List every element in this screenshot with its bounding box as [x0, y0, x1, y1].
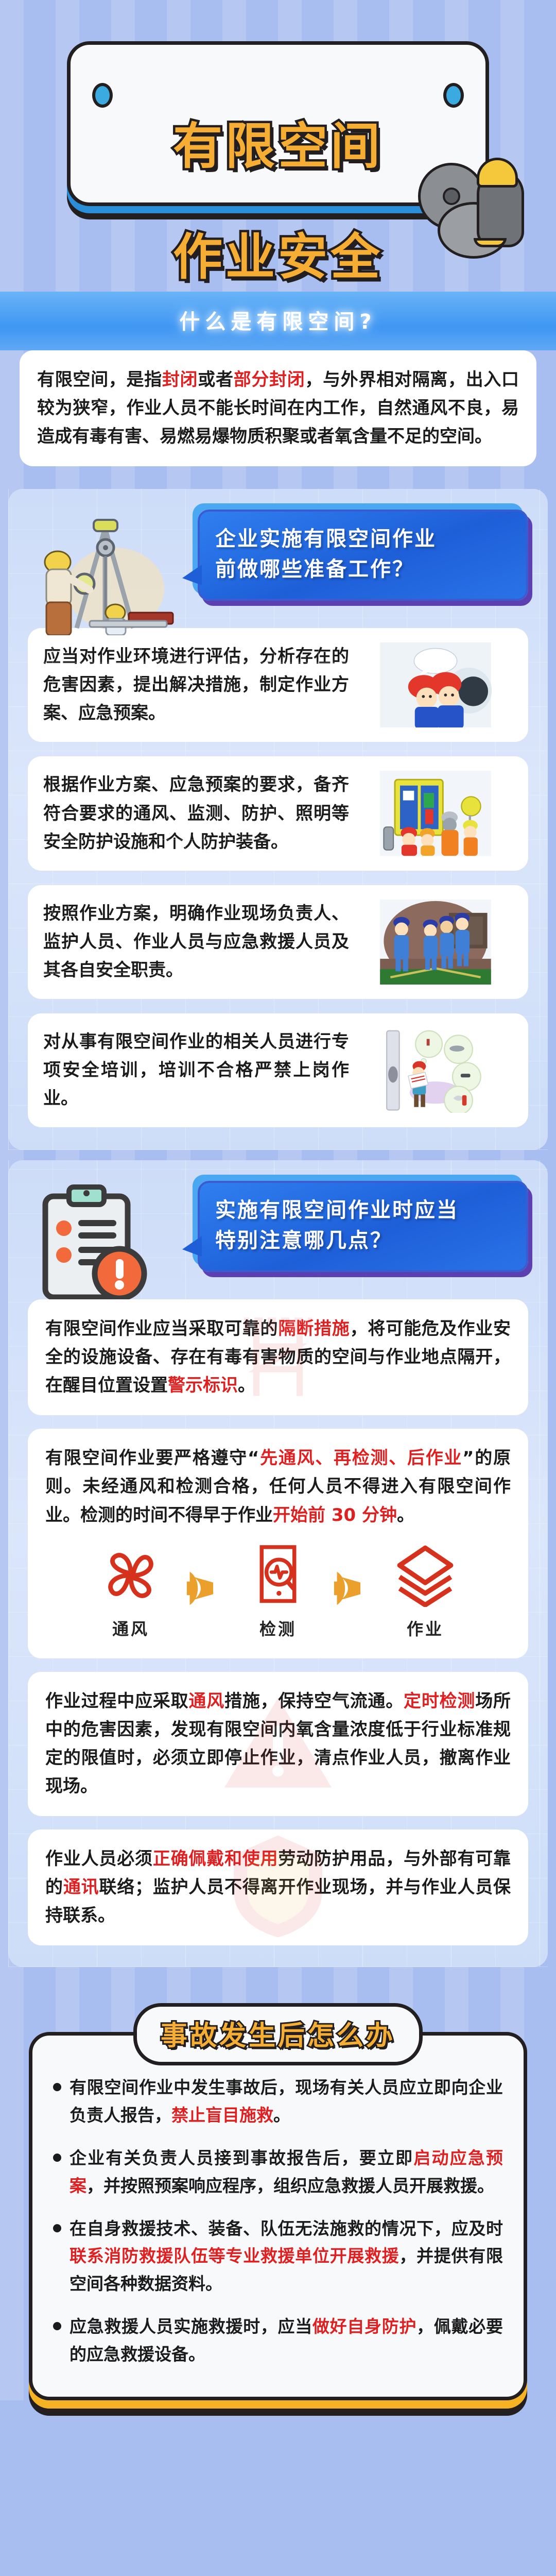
- prep-item-1: 应当对作业环境进行评估，分析存在的危害因素，提出解决措施，制定作业方案、应急预案…: [28, 628, 528, 742]
- prep-item-4-text: 对从事有限空间作业的相关人员进行专项安全培训，培训不合格严禁上岗作业。: [43, 1028, 349, 1113]
- prep-item-3-text: 按照作业方案，明确作业现场负责人、监护人员、作业人员与应急救援人员及其各自安全职…: [43, 900, 349, 985]
- right-arrow-icon: [185, 1550, 224, 1627]
- emergency-bullet-list: 有限空间作业中发生事故后，现场有关人员应立即向企业负责人报告，禁止盲目施救。 企…: [53, 2074, 503, 2368]
- section2-shell: 企业实施有限空间作业 前做哪些准备工作？ 应当对作业环境进行评估，分析存在的危害…: [8, 489, 548, 1150]
- page-title-line2: 作业安全: [173, 228, 383, 286]
- section4-tab-label: 事故发生后怎么办: [161, 2021, 395, 2052]
- bullet-dot-icon: [53, 2322, 61, 2330]
- emergency-bullet-1-text: 有限空间作业中发生事故后，现场有关人员应立即向企业负责人报告，禁止盲目施救。: [69, 2074, 503, 2129]
- equipment-cabinet-workers-illustration: [358, 771, 513, 856]
- emergency-bullet-4-text: 应急救援人员实施救援时，应当做好自身防护，佩戴必要的应急救援设备。: [69, 2313, 503, 2368]
- section1-heading-band: 什么是有限空间?: [0, 292, 556, 350]
- caution-item-4-text: 作业人员必须正确佩戴和使用劳动防护用品，与外部有可靠的通讯联络；监护人员不得离开…: [45, 1845, 511, 1930]
- caution-item-2-text: 有限空间作业要严格遵守“先通风、再检测、后作业”的原则。未经通风和检测合格，任何…: [45, 1444, 511, 1529]
- fan-icon: [82, 1537, 180, 1614]
- flow-label-detect: 检测: [229, 1616, 327, 1640]
- bullet-dot-icon: [53, 2083, 61, 2091]
- list-item: 企业有关负责人员接到事故报告后，要立即启动应急预案，并按照预案响应程序，组织应急…: [53, 2144, 503, 2199]
- section3-header: 实施有限空间作业时应当 特别注意哪几点？: [28, 1181, 528, 1299]
- emergency-bullet-2-text: 企业有关负责人员接到事故报告后，要立即启动应急预案，并按照预案响应程序，组织应急…: [69, 2144, 503, 2199]
- worker-reading-safety-board-illustration: [358, 1028, 513, 1113]
- flow-label-work: 作业: [376, 1616, 474, 1640]
- section3-bubble: 实施有限空间作业时应当 特别注意哪几点？: [198, 1181, 528, 1272]
- section4-wrapper: 事故发生后怎么办 有限空间作业中发生事故后，现场有关人员应立即向企业负责人报告，…: [29, 2003, 527, 2400]
- workers-briefing-line-illustration: [358, 900, 513, 985]
- caution-item-4: 作业人员必须正确佩戴和使用劳动防护用品，与外部有可靠的通讯联络；监护人员不得离开…: [28, 1829, 528, 1945]
- caution-item-1: 有限空间作业应当采取可靠的隔断措施，将可能危及作业安全的设施设备、存在有毒有害物…: [28, 1299, 528, 1415]
- definition-text: 有限空间，是指封闭或者部分封闭，与外界相对隔离，出入口较为狭窄，作业人员不能长时…: [37, 366, 519, 451]
- flow-step-ventilate: 通风: [82, 1537, 180, 1640]
- list-item: 在自身救援技术、装备、队伍无法施救的情况下，应及时联系消防救援队伍等专业救援单位…: [53, 2215, 503, 2297]
- ventilate-detect-work-flow: 通风: [45, 1530, 511, 1643]
- section2-heading-line1: 企业实施有限空间作业: [215, 524, 513, 554]
- section2-header: 企业实施有限空间作业 前做哪些准备工作？: [28, 510, 528, 628]
- list-item: 应急救援人员实施救援时，应当做好自身防护，佩戴必要的应急救援设备。: [53, 2313, 503, 2368]
- bullet-dot-icon: [53, 2154, 61, 2162]
- page-title-line1: 有限空间: [173, 117, 383, 175]
- prep-item-1-text: 应当对作业环境进行评估，分析存在的危害因素，提出解决措施，制定作业方案、应急预案…: [43, 642, 349, 727]
- section3-shell: 实施有限空间作业时应当 特别注意哪几点？ 有限空间作业应当采取可靠的隔断措: [8, 1160, 548, 1967]
- section3-heading-line2: 特别注意哪几点？: [215, 1226, 513, 1256]
- bullet-dot-icon: [53, 2224, 61, 2232]
- right-arrow-icon-2: [332, 1550, 371, 1627]
- list-item: 有限空间作业中发生事故后，现场有关人员应立即向企业负责人报告，禁止盲目施救。: [53, 2074, 503, 2129]
- hero-section: 有限空间 作业安全: [0, 0, 556, 289]
- caution-item-2: 有限空间作业要严格遵守“先通风、再检测、后作业”的原则。未经通风和检测合格，任何…: [28, 1429, 528, 1658]
- section1-heading: 什么是有限空间?: [0, 305, 556, 335]
- flow-step-work: 作业: [376, 1537, 474, 1640]
- caution-item-1-text: 有限空间作业应当采取可靠的隔断措施，将可能危及作业安全的设施设备、存在有毒有害物…: [45, 1315, 511, 1400]
- layers-chevron-icon: [376, 1537, 474, 1614]
- flow-label-ventilate: 通风: [82, 1616, 180, 1640]
- prep-item-4: 对从事有限空间作业的相关人员进行专项安全培训，培训不合格严禁上岗作业。: [28, 1013, 528, 1127]
- definition-card: 有限空间，是指封闭或者部分封闭，与外界相对隔离，出入口较为狭窄，作业人员不能长时…: [20, 350, 536, 466]
- section3-heading-line1: 实施有限空间作业时应当: [215, 1195, 513, 1226]
- section4-card: 有限空间作业中发生事故后，现场有关人员应立即向企业负责人报告，禁止盲目施救。 企…: [29, 2032, 527, 2400]
- emergency-bullet-3-text: 在自身救援技术、装备、队伍无法施救的情况下，应及时联系消防救援队伍等专业救援单位…: [69, 2215, 503, 2297]
- section1-body: 有限空间，是指封闭或者部分封闭，与外界相对隔离，出入口较为狭窄，作业人员不能长时…: [0, 350, 556, 489]
- infographic-page: 有限空间 作业安全 什么是有限空间? 有限空间，是指封闭或者部分封闭，与外界相对…: [0, 0, 556, 2400]
- flow-step-detect: 检测: [229, 1537, 327, 1640]
- section2-heading-line2: 前做哪些准备工作？: [215, 554, 513, 585]
- safety-helmet-icon: [418, 152, 526, 261]
- clipboard-checklist-warning-illustration: [28, 1183, 193, 1307]
- section2-bubble: 企业实施有限空间作业 前做哪些准备工作？: [198, 510, 528, 600]
- tripod-rescue-winch-illustration: [28, 512, 193, 635]
- caution-item-3-text: 作业过程中应采取通风措施，保持空气流通。定时检测场所中的危害因素，发现有限空间内…: [45, 1687, 511, 1801]
- prep-item-2: 根据作业方案、应急预案的要求，备齐符合要求的通风、监测、防护、照明等安全防护设施…: [28, 756, 528, 870]
- section4-tab: 事故发生后怎么办: [133, 2003, 423, 2065]
- caution-item-3: 作业过程中应采取通风措施，保持空气流通。定时检测场所中的危害因素，发现有限空间内…: [28, 1672, 528, 1816]
- prep-item-2-text: 根据作业方案、应急预案的要求，备齐符合要求的通风、监测、防护、照明等安全防护设施…: [43, 771, 349, 856]
- gas-detector-icon: [229, 1537, 327, 1614]
- two-workers-red-helmet-illustration: [358, 642, 513, 727]
- prep-item-3: 按照作业方案，明确作业现场负责人、监护人员、作业人员与应急救援人员及其各自安全职…: [28, 885, 528, 999]
